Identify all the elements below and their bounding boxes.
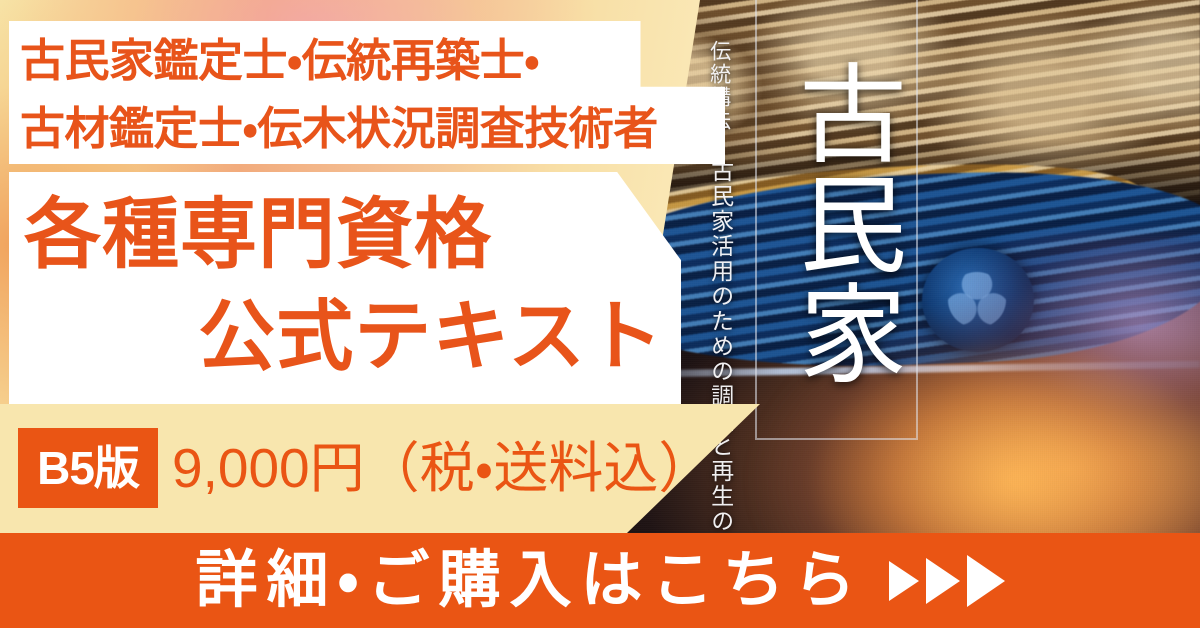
- format-badge: B5版: [18, 428, 158, 508]
- triple-right-arrow-icon: [889, 555, 1005, 607]
- qualifications-text: 古民家鑑定士・伝統再築士・ 古材鑑定士・伝木状況調査技術者: [20, 27, 726, 162]
- headline: 各種専門資格 公式テキスト: [18, 184, 678, 389]
- price-text: 9,000円（税・送料込）: [172, 430, 713, 506]
- cover-title: 古民家: [762, 8, 912, 438]
- right-arrow-icon-2: [926, 558, 960, 604]
- right-arrow-icon-3: [967, 555, 1005, 607]
- promo-banner: 古民家 伝統構法 古民家活用のための調査と再生の 古民家鑑定士・伝統再築士・ 古…: [0, 0, 1200, 628]
- headline-line-1: 各種専門資格: [18, 184, 678, 286]
- right-arrow-icon-1: [889, 561, 919, 601]
- cta-label: 詳細・ご購入はこちら: [195, 550, 864, 612]
- headline-line-2: 公式テキスト: [18, 286, 678, 388]
- cta-bar[interactable]: 詳細・ご購入はこちら: [0, 533, 1200, 628]
